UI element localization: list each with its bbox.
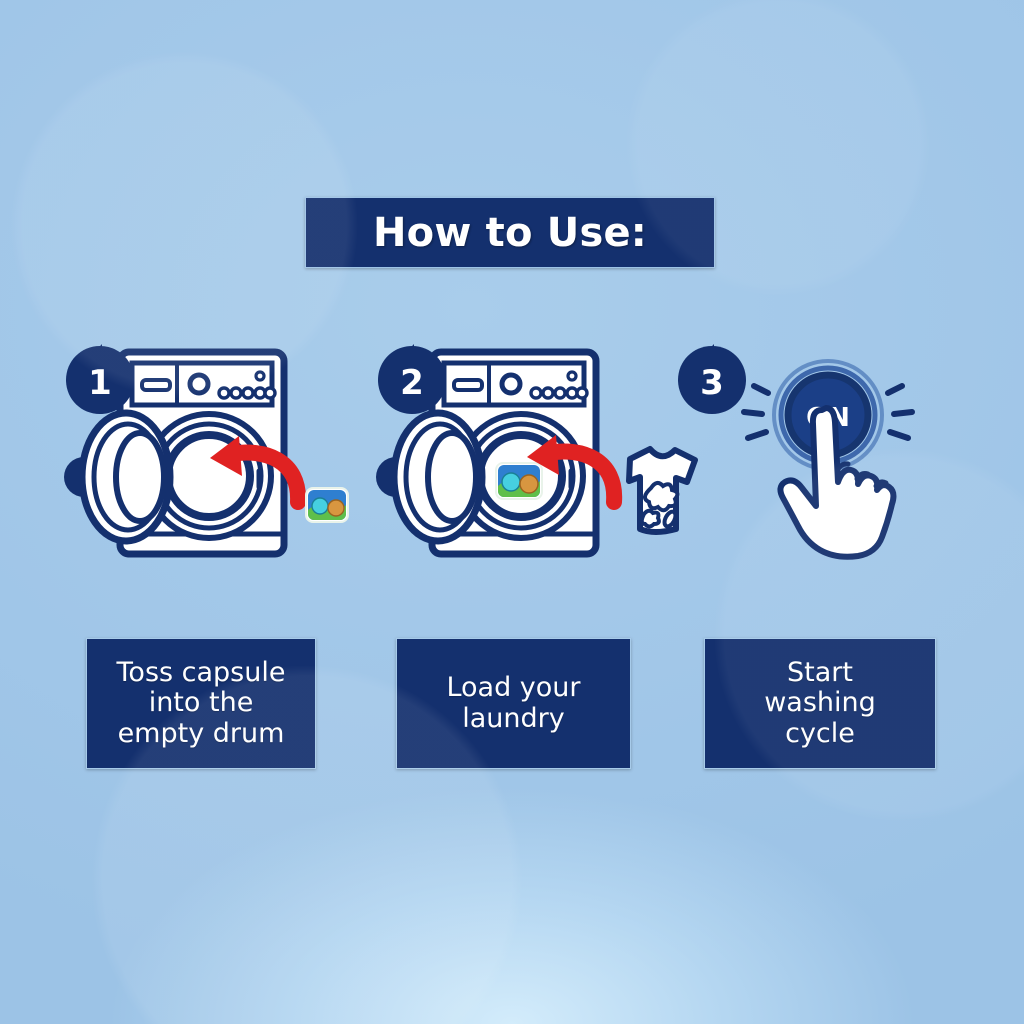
step-1-caption-box: Toss capsule into the empty drum — [86, 638, 316, 769]
step-2-caption-box: Load your laundry — [396, 638, 631, 769]
step-number-text: 3 — [700, 363, 724, 403]
step-1-caption-text: Toss capsule into the empty drum — [117, 658, 286, 749]
step-2-caption-text: Load your laundry — [446, 673, 580, 733]
step-3-caption-text: Start washing cycle — [764, 658, 876, 749]
page-title: How to Use: — [373, 210, 647, 256]
step-2-illustration: 2 — [376, 336, 696, 588]
step-3-caption-box: Start washing cycle — [704, 638, 936, 769]
detergent-capsule-icon — [496, 463, 542, 499]
step-number-text: 1 — [88, 363, 112, 403]
washer-door-open-icon — [376, 413, 482, 541]
infographic-canvas: How to Use: — [0, 0, 1024, 1024]
page-title-banner: How to Use: — [305, 197, 715, 268]
step-number-badge-3: 3 — [678, 344, 746, 414]
step-3-illustration: ON 3 — [676, 336, 956, 588]
detergent-capsule-icon — [306, 488, 348, 522]
step-1-illustration: 1 — [64, 336, 384, 588]
washer-door-open-icon — [64, 413, 170, 541]
step-number-text: 2 — [400, 363, 424, 403]
